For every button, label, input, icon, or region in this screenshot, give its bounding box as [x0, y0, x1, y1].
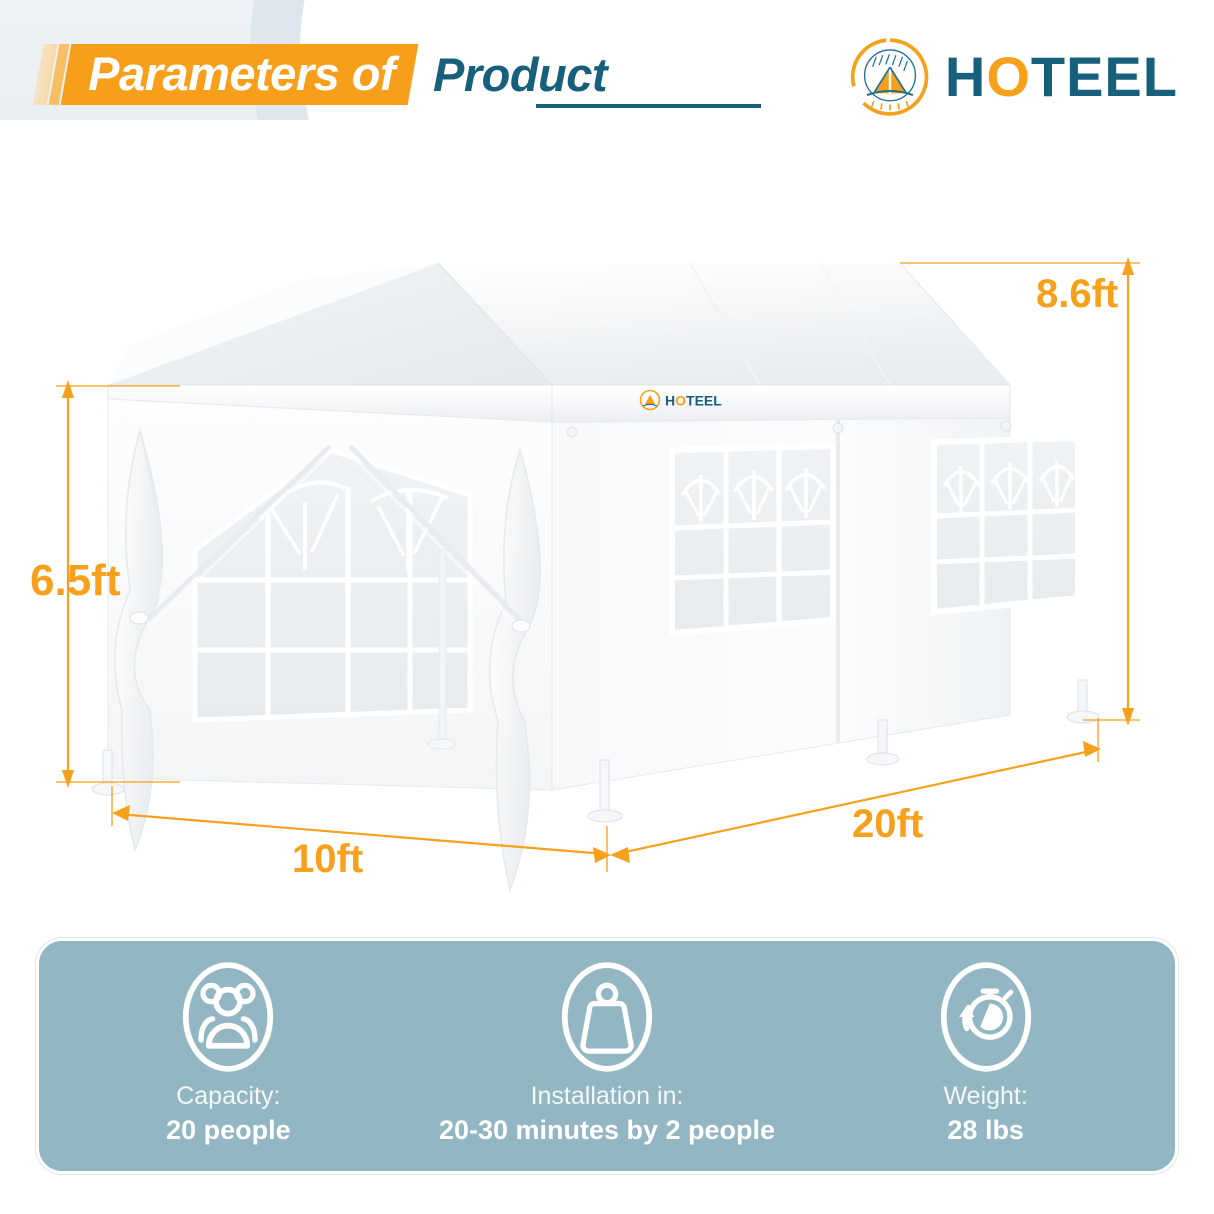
- stopwatch-icon: [938, 961, 1034, 1073]
- dimension-label-height-peak: 8.6ft: [1036, 272, 1118, 317]
- side-window-1: [672, 446, 833, 633]
- title-highlight-text: Parameters of: [88, 46, 395, 101]
- spec-label-weight: Weight:: [944, 1081, 1028, 1112]
- brand-wordmark: HOTEEL: [945, 49, 1178, 105]
- brand-logo: HOTEEL: [849, 36, 1178, 118]
- title-plain-block: Product: [433, 44, 607, 105]
- product-illustration: HOTEEL: [0, 150, 1214, 910]
- spec-value-weight: 28 lbs: [947, 1114, 1024, 1148]
- dimension-label-width: 10ft: [292, 837, 363, 882]
- spec-item-capacity: Capacity: 20 people: [39, 941, 418, 1171]
- weight-bag-icon: [559, 961, 655, 1073]
- spec-item-installation: Installation in: 20-30 minutes by 2 peop…: [418, 941, 797, 1171]
- spec-label-capacity: Capacity:: [176, 1081, 280, 1112]
- spec-label-installation: Installation in:: [531, 1081, 684, 1112]
- side-wall-panel: [552, 418, 1078, 790]
- title-underline: [536, 104, 761, 108]
- brand-emblem-icon: [849, 36, 931, 118]
- dimension-label-height-side: 6.5ft: [30, 556, 120, 606]
- brand-letters-teel: TEEL: [1031, 49, 1178, 105]
- spec-value-installation: 20-30 minutes by 2 people: [439, 1114, 775, 1148]
- title-highlight-block: Parameters of: [61, 44, 419, 105]
- dimension-label-length: 20ft: [852, 802, 923, 847]
- product-infographic-page: Parameters of Product: [0, 0, 1214, 1214]
- spec-item-weight: Weight: 28 lbs: [796, 941, 1175, 1171]
- title-plain-text: Product: [433, 47, 607, 102]
- brand-letter-h: H: [945, 49, 986, 105]
- front-wall-panel: [108, 399, 552, 890]
- spec-panel: Capacity: 20 people Installation in: 20-…: [36, 938, 1178, 1174]
- side-window-2: [934, 438, 1078, 612]
- canopy-roof: [108, 263, 1010, 385]
- brand-letter-o: O: [986, 49, 1031, 105]
- svg-text:HOTEEL: HOTEEL: [665, 393, 722, 409]
- page-title: Parameters of Product: [38, 44, 607, 105]
- spec-value-capacity: 20 people: [166, 1114, 291, 1148]
- people-group-icon: [180, 961, 276, 1073]
- header: Parameters of Product: [0, 0, 1214, 128]
